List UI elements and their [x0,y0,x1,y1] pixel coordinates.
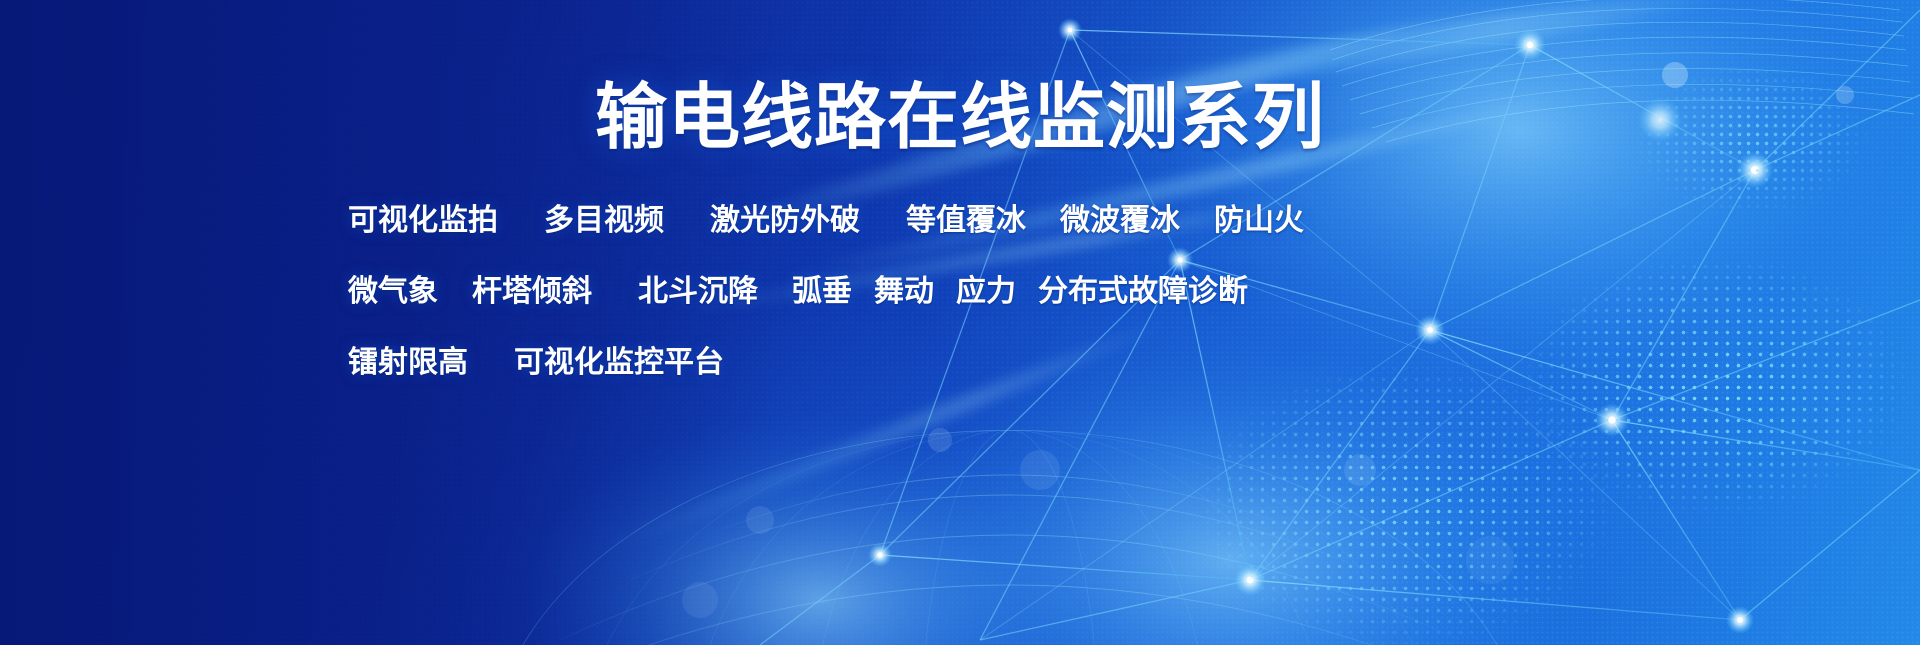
product-tag[interactable]: 防山火 [1214,206,1304,236]
product-tag[interactable]: 可视化监控平台 [514,348,724,378]
product-tag[interactable]: 镭射限高 [348,348,468,378]
product-tag-row-3: 镭射限高可视化监控平台 [348,348,1348,378]
product-tag-rows: 可视化监拍多目视频激光防外破等值覆冰微波覆冰防山火 微气象杆塔倾斜北斗沉降弧垂舞… [348,206,1348,378]
product-tag[interactable]: 多目视频 [544,206,664,236]
product-tag[interactable]: 微波覆冰 [1060,206,1180,236]
product-tag[interactable]: 杆塔倾斜 [472,277,592,307]
banner-content: 输电线路在线监测系列 可视化监拍多目视频激光防外破等值覆冰微波覆冰防山火 微气象… [0,0,1920,645]
product-tag-row-1: 可视化监拍多目视频激光防外破等值覆冰微波覆冰防山火 [348,206,1348,236]
product-tag[interactable]: 弧垂 [792,277,852,307]
product-tag[interactable]: 北斗沉降 [638,277,758,307]
hero-banner: 输电线路在线监测系列 可视化监拍多目视频激光防外破等值覆冰微波覆冰防山火 微气象… [0,0,1920,645]
product-tag[interactable]: 可视化监拍 [348,206,498,236]
product-tag[interactable]: 等值覆冰 [906,206,1026,236]
product-tag[interactable]: 微气象 [348,277,438,307]
product-tag[interactable]: 分布式故障诊断 [1038,277,1248,307]
product-tag[interactable]: 应力 [956,277,1016,307]
banner-title: 输电线路在线监测系列 [0,82,1920,154]
product-tag[interactable]: 舞动 [874,277,934,307]
product-tag[interactable]: 激光防外破 [710,206,860,236]
product-tag-row-2: 微气象杆塔倾斜北斗沉降弧垂舞动应力分布式故障诊断 [348,277,1348,307]
